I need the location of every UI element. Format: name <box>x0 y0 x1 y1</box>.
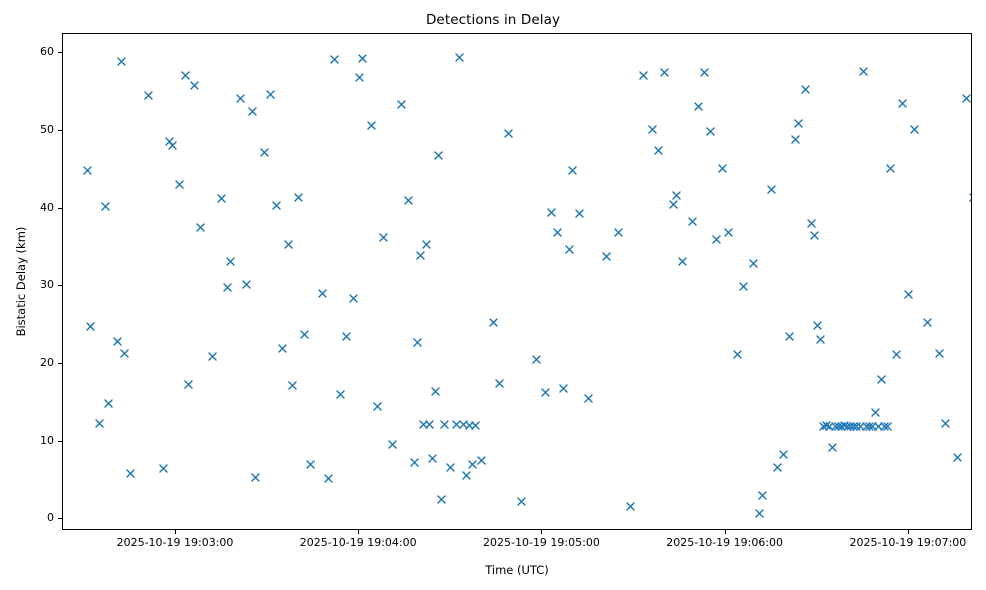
data-point-marker <box>216 193 227 204</box>
data-point-marker <box>858 66 869 77</box>
data-point-marker <box>461 470 472 481</box>
data-point-marker <box>225 256 236 267</box>
data-point-marker <box>235 93 246 104</box>
data-point-marker <box>848 421 859 432</box>
data-point-marker <box>873 421 884 432</box>
data-point-marker <box>467 459 478 470</box>
data-point-marker <box>677 256 688 267</box>
data-point-marker <box>85 321 96 332</box>
data-point-marker <box>195 222 206 233</box>
data-point-marker <box>552 227 563 238</box>
x-tick-mark <box>175 530 176 534</box>
data-point-marker <box>861 421 872 432</box>
data-point-marker <box>601 251 612 262</box>
data-point-marker <box>833 421 844 432</box>
data-point-marker <box>891 349 902 360</box>
data-point-marker <box>299 329 310 340</box>
data-point-marker <box>839 420 850 431</box>
data-point-marker <box>754 508 765 519</box>
data-point-marker <box>464 420 475 431</box>
data-point-marker <box>323 473 334 484</box>
data-point-marker <box>638 70 649 81</box>
data-point-marker <box>882 421 893 432</box>
data-point-marker <box>259 147 270 158</box>
data-point-marker <box>454 52 465 63</box>
data-point-marker <box>809 230 820 241</box>
data-point-marker <box>265 89 276 100</box>
data-point-marker <box>439 419 450 430</box>
data-point-marker <box>546 207 557 218</box>
data-point-marker <box>143 90 154 101</box>
x-tick-label: 2025-10-19 19:04:00 <box>300 536 417 549</box>
data-point-marker <box>470 420 481 431</box>
data-point-marker <box>317 288 328 299</box>
x-tick-label: 2025-10-19 19:07:00 <box>849 536 966 549</box>
x-axis-label: Time (UTC) <box>62 563 972 577</box>
data-point-marker <box>699 67 710 78</box>
data-point-marker <box>934 348 945 359</box>
data-point-marker <box>271 200 282 211</box>
x-tick-mark <box>908 530 909 534</box>
data-point-marker <box>732 349 743 360</box>
data-point-marker <box>164 136 175 147</box>
data-point-marker <box>842 421 853 432</box>
data-point-marker <box>436 494 447 505</box>
chart-figure: Detections in Delay 0102030405060 2025-1… <box>0 0 986 590</box>
x-tick-label: 2025-10-19 19:05:00 <box>483 536 600 549</box>
data-point-marker <box>378 232 389 243</box>
data-point-marker <box>968 192 973 203</box>
data-point-marker <box>671 190 682 201</box>
data-point-marker <box>430 386 441 397</box>
data-point-marker <box>757 490 768 501</box>
data-point-marker <box>897 98 908 109</box>
data-point-marker <box>845 421 856 432</box>
data-point-marker <box>613 227 624 238</box>
data-point-marker <box>180 70 191 81</box>
data-point-marker <box>241 279 252 290</box>
x-tick-mark <box>725 530 726 534</box>
x-tick-label: 2025-10-19 19:06:00 <box>666 536 783 549</box>
data-point-marker <box>341 331 352 342</box>
data-point-marker <box>433 150 444 161</box>
data-point-marker <box>818 421 829 432</box>
data-point-marker <box>855 421 866 432</box>
x-tick-mark <box>358 530 359 534</box>
data-point-marker <box>103 398 114 409</box>
data-point-marker <box>778 449 789 460</box>
data-point-marker <box>647 124 658 135</box>
data-point-marker <box>387 439 398 450</box>
data-point-marker <box>625 501 636 512</box>
data-point-marker <box>488 317 499 328</box>
data-point-marker <box>119 348 130 359</box>
data-point-marker <box>574 208 585 219</box>
data-point-marker <box>396 99 407 110</box>
data-point-marker <box>540 387 551 398</box>
data-point-marker <box>354 72 365 83</box>
data-point-marker <box>372 401 383 412</box>
data-point-marker <box>125 468 136 479</box>
data-point-marker <box>800 84 811 95</box>
data-point-marker <box>687 216 698 227</box>
data-point-marker <box>531 354 542 365</box>
data-point-marker <box>366 120 377 131</box>
plot-area[interactable] <box>62 33 972 530</box>
data-point-marker <box>427 453 438 464</box>
data-point-marker <box>558 383 569 394</box>
data-point-marker <box>287 380 298 391</box>
data-point-marker <box>870 407 881 418</box>
data-point-marker <box>836 421 847 432</box>
data-point-marker <box>772 462 783 473</box>
data-point-marker <box>329 54 340 65</box>
data-point-marker <box>876 374 887 385</box>
data-point-marker <box>167 140 178 151</box>
data-point-marker <box>766 184 777 195</box>
data-point-marker <box>738 281 749 292</box>
data-point-marker <box>189 80 200 91</box>
data-point-marker <box>830 421 841 432</box>
data-point-marker <box>922 317 933 328</box>
data-point-marker <box>357 53 368 64</box>
data-point-marker <box>451 419 462 430</box>
data-point-marker <box>668 199 679 210</box>
data-point-marker <box>885 163 896 174</box>
data-point-marker <box>494 378 505 389</box>
data-point-marker <box>711 234 722 245</box>
data-point-marker <box>717 163 728 174</box>
data-point-marker <box>415 250 426 261</box>
data-point-marker <box>335 389 346 400</box>
data-point-marker <box>116 56 127 67</box>
data-point-marker <box>222 282 233 293</box>
data-point-marker <box>403 195 414 206</box>
data-point-marker <box>516 496 527 507</box>
data-point-marker <box>748 258 759 269</box>
data-point-marker <box>879 421 890 432</box>
data-point-marker <box>793 118 804 129</box>
data-point-marker <box>409 457 420 468</box>
data-point-marker <box>348 293 359 304</box>
data-point-marker <box>821 420 832 431</box>
data-point-marker <box>283 239 294 250</box>
data-point-marker <box>158 463 169 474</box>
data-point-marker <box>659 67 670 78</box>
data-point-marker <box>940 418 951 429</box>
data-point-marker <box>183 379 194 390</box>
data-point-marker <box>812 320 823 331</box>
data-point-marker <box>851 421 862 432</box>
data-point-marker <box>476 455 487 466</box>
data-point-marker <box>864 421 875 432</box>
data-point-marker <box>100 201 111 212</box>
data-point-marker <box>705 126 716 137</box>
x-tick-mark <box>541 530 542 534</box>
data-point-marker <box>693 101 704 112</box>
x-tick-label: 2025-10-19 19:03:00 <box>117 536 234 549</box>
data-point-marker <box>827 442 838 453</box>
data-point-marker <box>790 134 801 145</box>
data-point-marker <box>421 239 432 250</box>
data-point-marker <box>867 421 878 432</box>
data-point-marker <box>458 419 469 430</box>
data-point-marker <box>174 179 185 190</box>
data-point-marker <box>583 393 594 404</box>
data-point-marker <box>784 331 795 342</box>
data-point-marker <box>564 244 575 255</box>
data-point-marker <box>903 289 914 300</box>
data-point-marker <box>94 418 105 429</box>
data-point-marker <box>909 124 920 135</box>
data-point-marker <box>305 459 316 470</box>
data-point-marker <box>961 93 972 104</box>
data-point-marker <box>418 419 429 430</box>
data-point-marker <box>250 472 261 483</box>
data-point-marker <box>815 334 826 345</box>
data-point-marker <box>952 452 963 463</box>
data-point-marker <box>207 351 218 362</box>
data-point-marker <box>445 462 456 473</box>
data-point-marker <box>567 165 578 176</box>
data-point-marker <box>723 227 734 238</box>
data-point-marker <box>277 343 288 354</box>
data-point-marker <box>112 336 123 347</box>
data-point-marker <box>247 106 258 117</box>
data-point-marker <box>653 145 664 156</box>
data-point-marker <box>824 421 835 432</box>
y-axis-label: Bistatic Delay (km) <box>14 33 30 530</box>
data-point-marker <box>806 218 817 229</box>
data-point-marker <box>412 337 423 348</box>
data-point-marker <box>293 192 304 203</box>
data-point-marker <box>424 419 435 430</box>
data-point-marker <box>503 128 514 139</box>
data-point-marker <box>82 165 93 176</box>
